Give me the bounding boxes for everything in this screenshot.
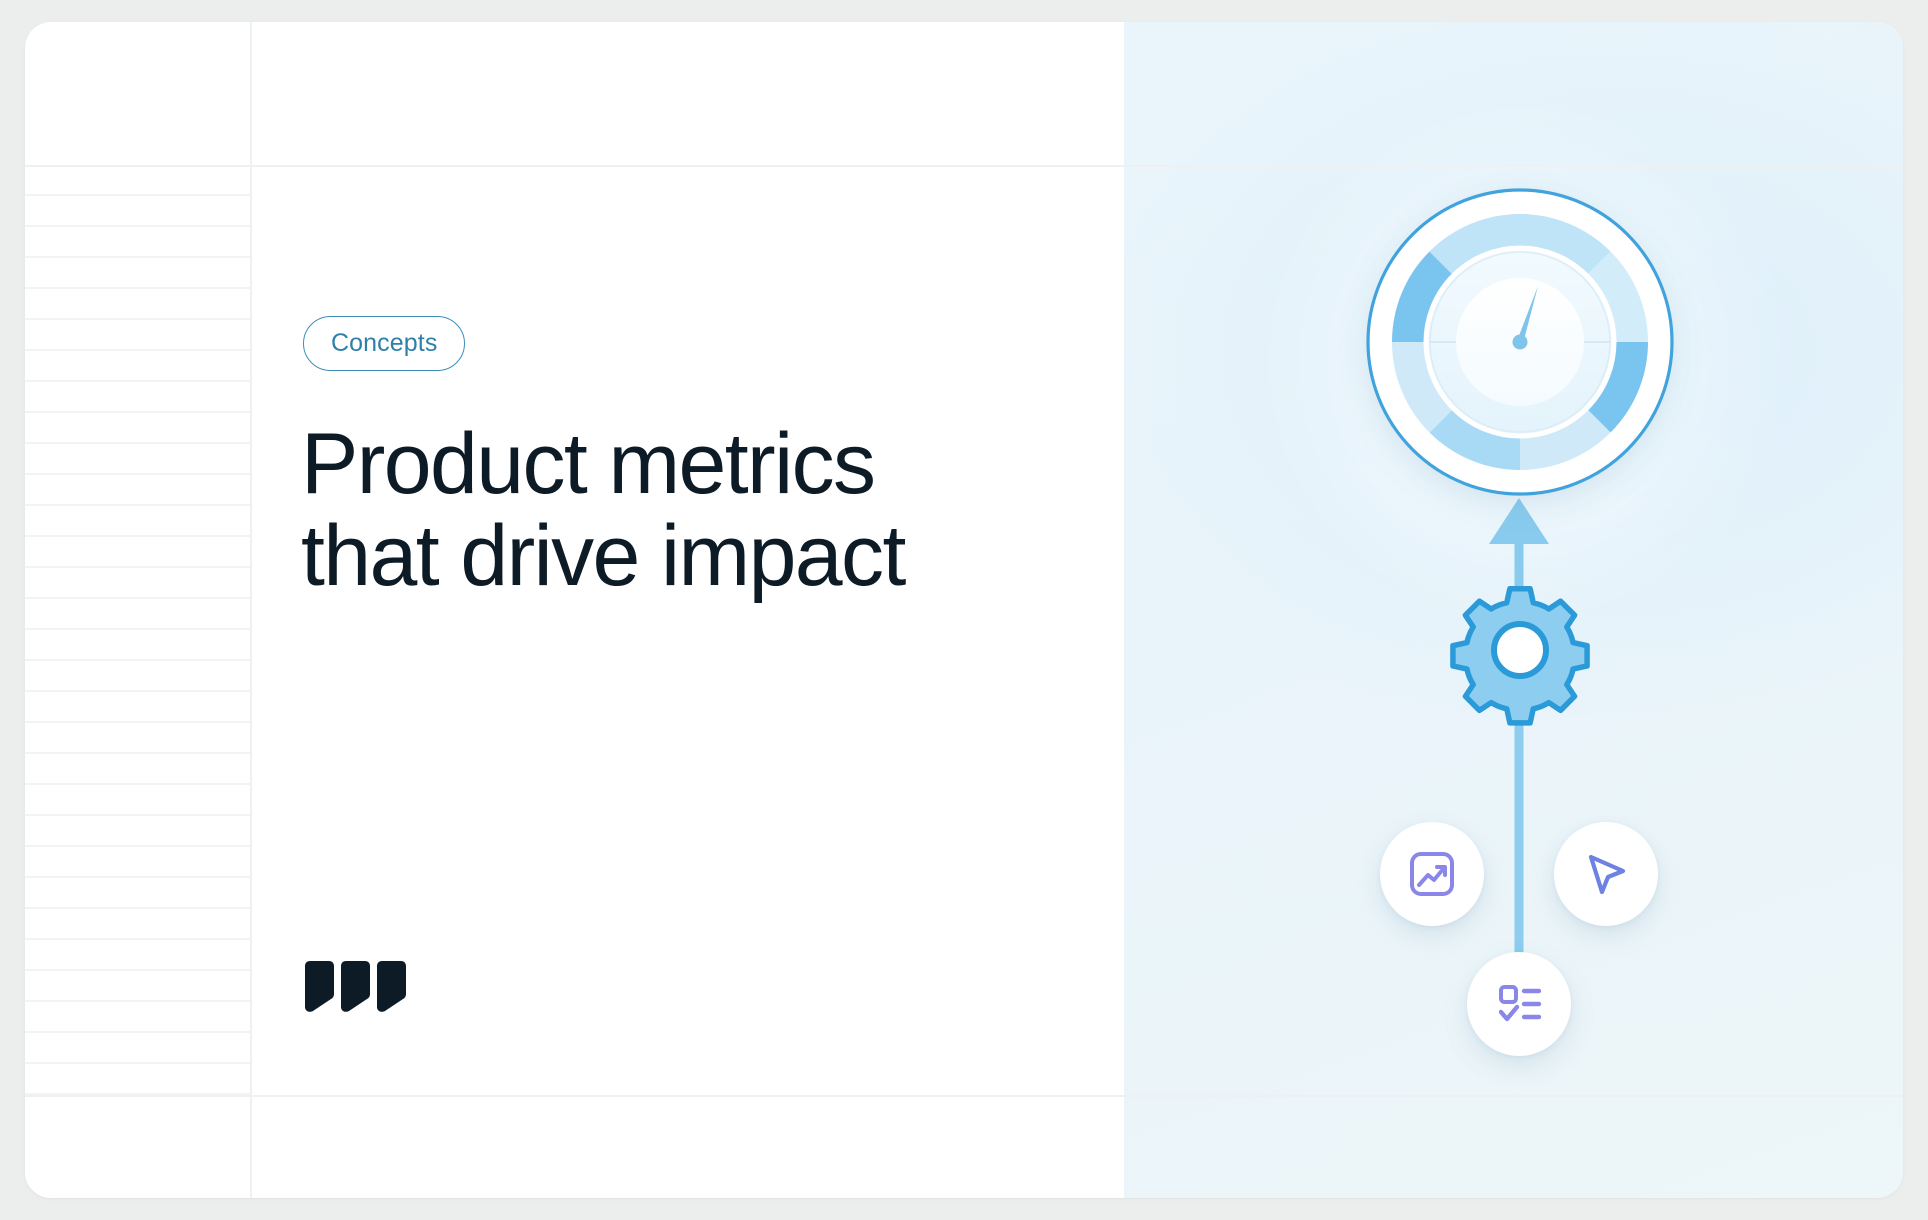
checklist-icon [1494,979,1544,1029]
divider-top [25,165,1903,167]
ruled-lines [25,165,250,1095]
page-title-line-1: Product metrics [301,416,874,512]
brand-logo [301,952,423,1030]
divider-vertical [250,22,252,1198]
cursor-pointer-icon [1581,849,1631,899]
gear-icon [1453,589,1587,723]
content-card: Concepts Product metrics that drive impa… [25,22,1903,1198]
page-title-line-2: that drive impact [301,510,1091,602]
chart-trending-up-icon [1407,849,1457,899]
gauge-dial [1368,190,1672,494]
ruled-margin-strip [25,22,250,1198]
divider-bottom [25,1095,1903,1097]
left-content-pane: Concepts Product metrics that drive impa… [251,22,1124,1198]
screenshot-root: Concepts Product metrics that drive impa… [0,0,1928,1220]
chip-chart-trending-up[interactable] [1380,822,1484,926]
chip-cursor-pointer[interactable] [1554,822,1658,926]
category-badge[interactable]: Concepts [303,316,465,371]
page-title: Product metrics that drive impact [301,418,1091,602]
chip-checklist[interactable] [1467,952,1571,1056]
illustration-pane [1124,22,1903,1198]
